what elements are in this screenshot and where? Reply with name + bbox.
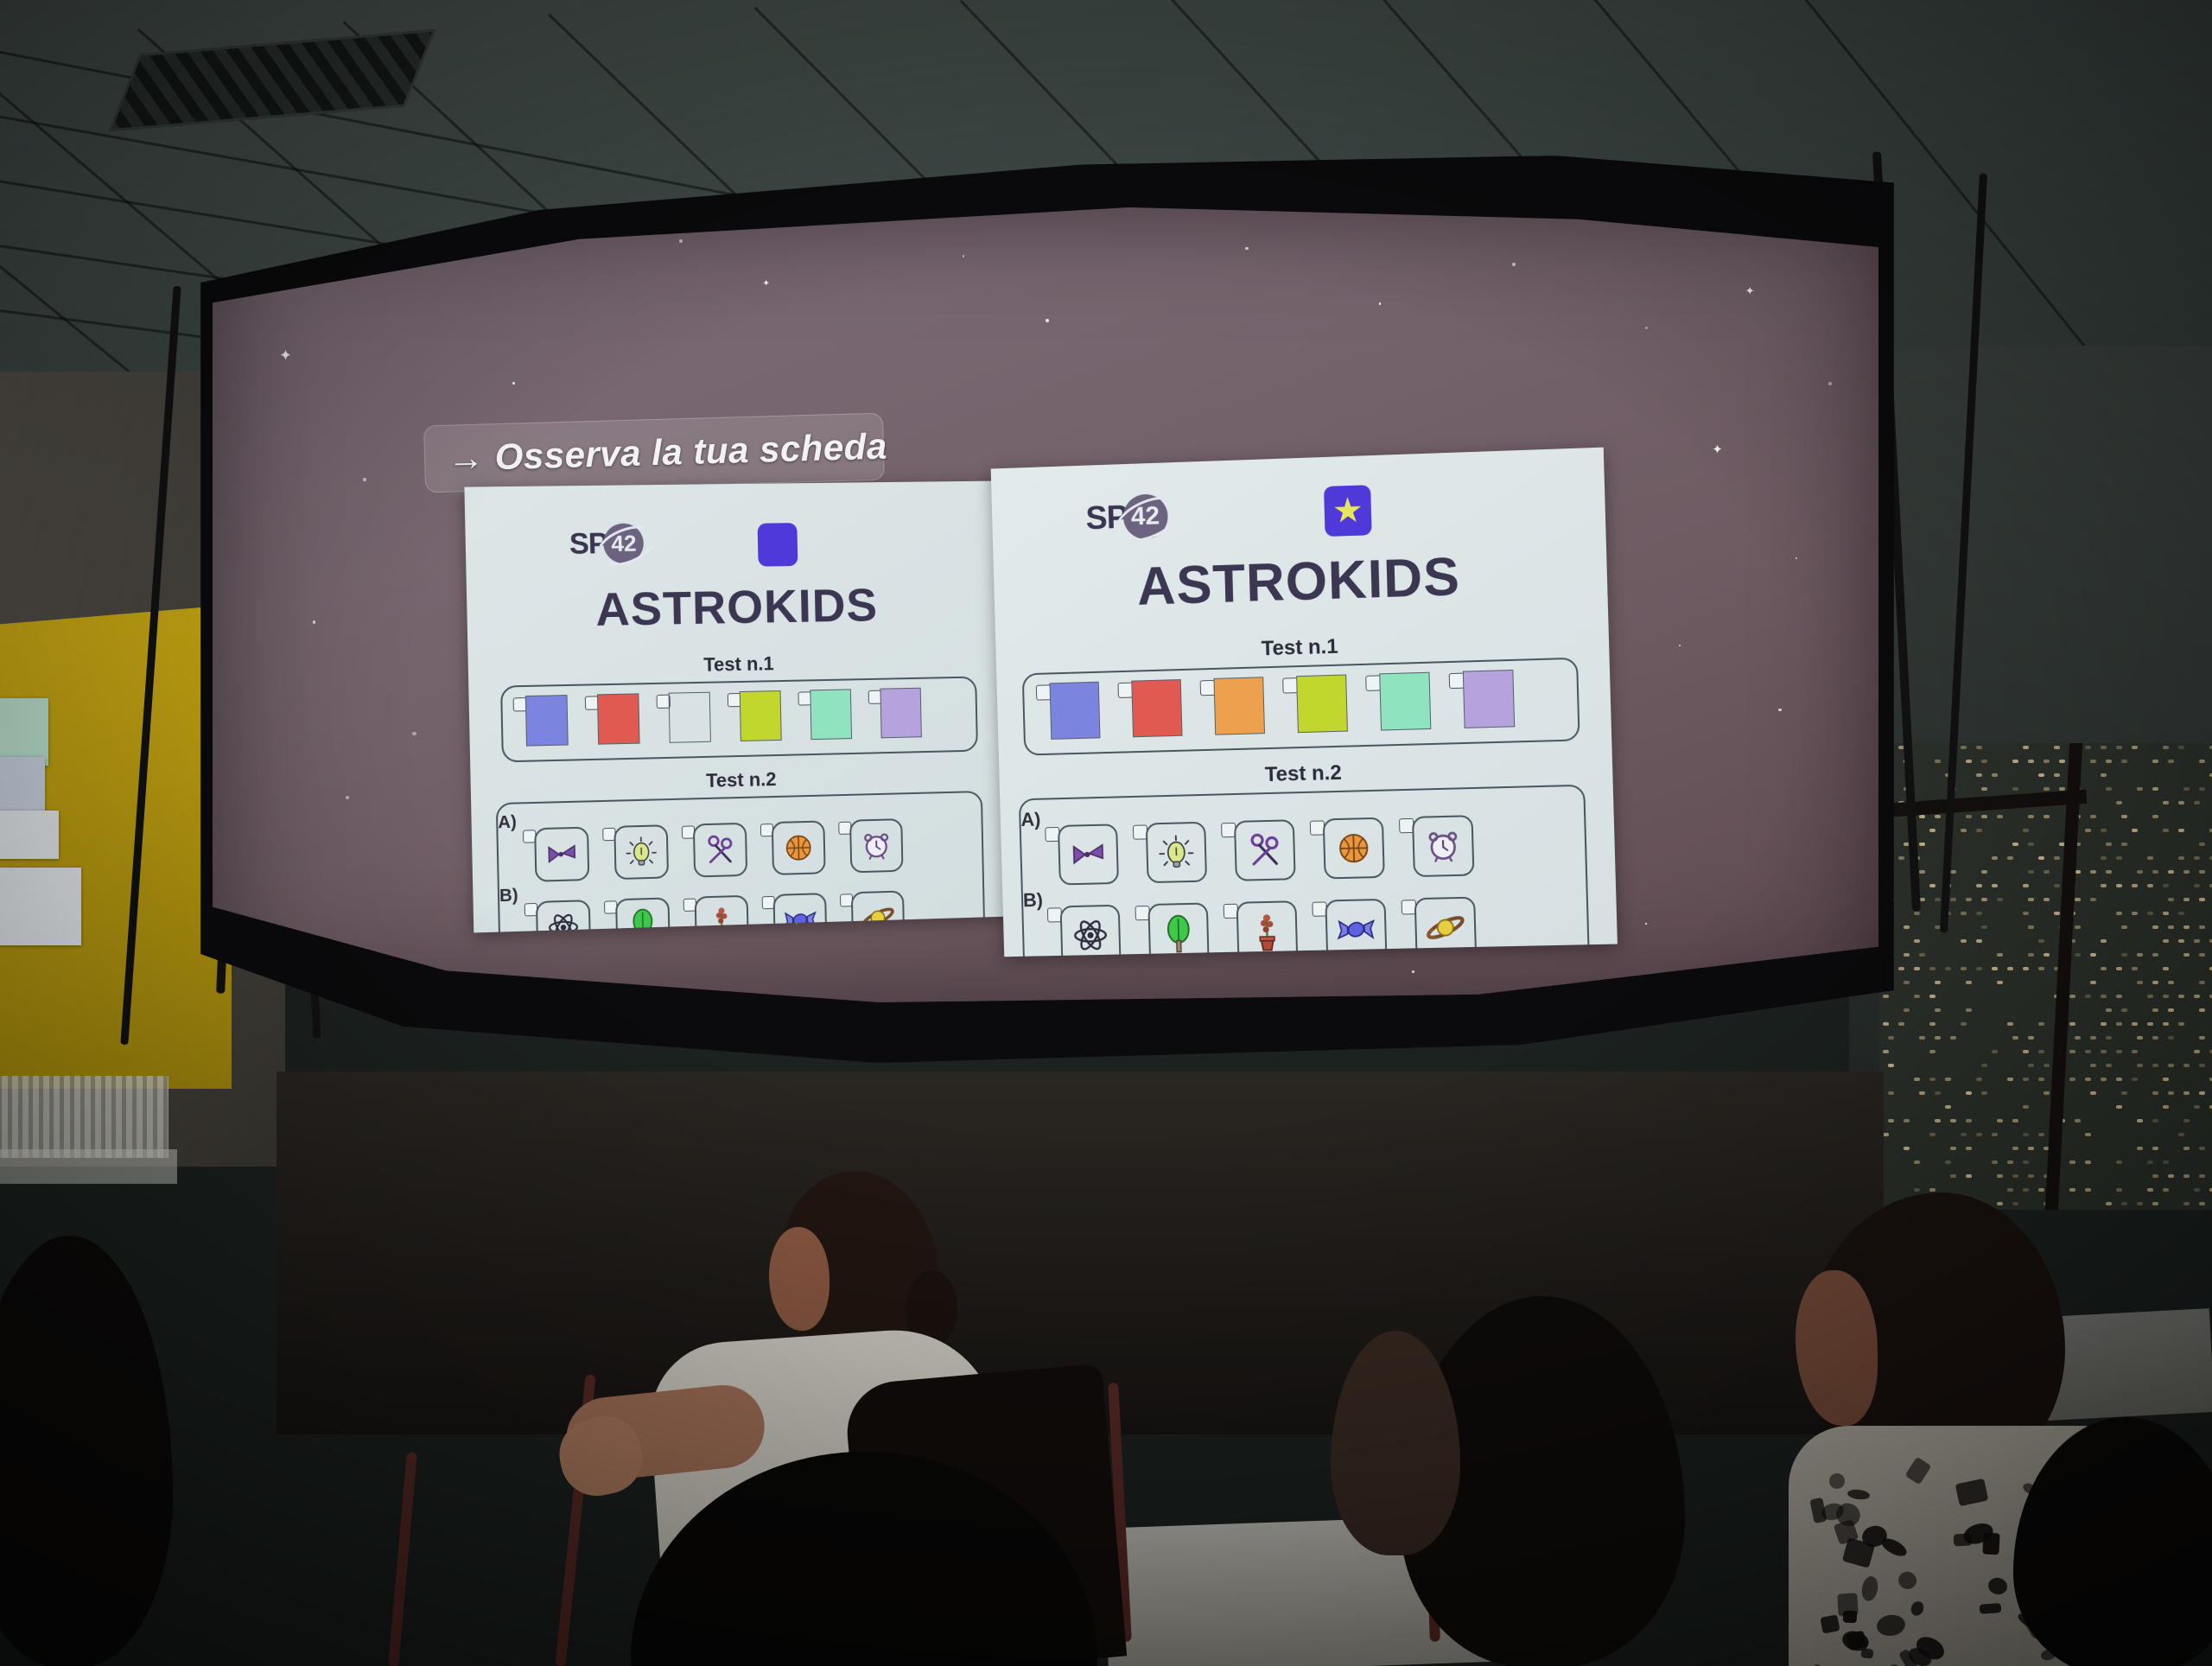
shirt-pattern-mark	[1979, 1603, 2001, 1614]
blind-light-dot	[2038, 773, 2044, 777]
scissors-icon	[702, 831, 739, 868]
blind-light-dot	[2183, 1202, 2190, 1205]
test2-rows: A) B)	[991, 448, 1604, 469]
blind-light-dot	[1981, 870, 1987, 874]
blind-light-dot	[2101, 939, 2107, 943]
sp42-logo: SP 42	[1085, 493, 1168, 541]
blind-light-dot	[1976, 912, 1982, 915]
blind-light-dot	[1929, 1050, 1935, 1053]
shirt-pattern-mark	[2085, 1647, 2113, 1666]
blind-light-dot	[2028, 815, 2034, 818]
icon-cell[interactable]	[602, 824, 669, 880]
blind-light-dot	[2044, 787, 2050, 791]
blind-light-dot	[2121, 1202, 2127, 1205]
blind-light-dot	[2106, 843, 2112, 846]
shirt-pattern-mark	[1860, 1574, 1880, 1602]
icon-box[interactable]	[1146, 822, 1207, 883]
icon-row	[1045, 815, 1490, 886]
blind-light-dot	[2007, 1078, 2013, 1081]
shirt-pattern-mark	[1961, 1520, 1996, 1547]
blind-light-dot	[1992, 773, 1998, 777]
icon-box[interactable]	[1412, 815, 1474, 877]
blind-light-dot	[1992, 967, 1998, 970]
shirt-pattern-mark	[2040, 1589, 2066, 1611]
blind-light-dot	[2183, 898, 2190, 901]
icon-cell[interactable]	[1133, 822, 1207, 884]
card-title: ASTROKIDS	[467, 576, 1003, 639]
blind-light-dot	[2152, 1202, 2158, 1205]
blind-light-dot	[2178, 801, 2184, 804]
blind-light-dot	[2163, 995, 2169, 998]
blind-light-dot	[1981, 787, 1987, 791]
blind-light-dot	[2137, 1147, 2143, 1150]
blind-light-dot	[2106, 1202, 2112, 1205]
blind-light-dot	[2101, 967, 2107, 970]
swatch-cell[interactable]	[868, 688, 922, 739]
blind-light-dot	[2090, 898, 2096, 901]
callout-text: → Osserva la tua scheda	[447, 425, 887, 479]
shirt-pattern-mark	[1898, 1649, 1919, 1666]
blind-light-dot	[2101, 829, 2107, 832]
blind-light-dot	[2199, 1036, 2205, 1040]
blind-light-dot	[1950, 1174, 1956, 1178]
blind-light-dot	[2132, 967, 2138, 970]
mint-swatch[interactable]	[810, 689, 852, 740]
orange-swatch[interactable]	[669, 692, 711, 743]
blind-light-dot	[2044, 953, 2050, 957]
blind-light-dot	[2178, 912, 2184, 915]
blind-light-dot	[1935, 1119, 1941, 1122]
blind-light-dot	[2012, 760, 2018, 763]
icon-cell[interactable]	[523, 827, 589, 883]
shirt-pattern-mark	[1904, 1457, 1931, 1485]
swatch-cell[interactable]	[656, 692, 710, 743]
blind-light-dot	[2075, 1119, 2081, 1122]
blind-light-dot	[2116, 1022, 2122, 1026]
blind-light-dot	[1966, 981, 1972, 984]
mint-swatch[interactable]	[1379, 672, 1431, 731]
row-letter: B)	[499, 886, 518, 906]
blind-light-dot	[2054, 773, 2060, 777]
atom-icon	[1070, 914, 1112, 957]
blind-light-dot	[1966, 1091, 1972, 1095]
blind-light-dot	[2116, 1050, 2122, 1053]
blind-light-dot	[2121, 760, 2127, 763]
blind-light-dot	[1919, 815, 1925, 818]
blind-light-dot	[2163, 884, 2169, 887]
blind-light-dot	[2007, 856, 2013, 860]
blind-light-dot	[2199, 760, 2205, 763]
blind-light-dot	[2038, 1022, 2044, 1026]
blind-light-dot	[1997, 1174, 2003, 1178]
blind-light-dot	[2023, 1050, 2029, 1053]
icon-box[interactable]	[613, 824, 669, 880]
blind-light-dot	[2106, 870, 2112, 874]
icon-cell[interactable]	[1312, 899, 1387, 957]
blind-light-dot	[2152, 953, 2158, 957]
blind-light-dot	[1904, 1119, 1910, 1122]
blind-light-dot	[2059, 760, 2065, 763]
blind-light-dot	[2106, 1064, 2112, 1067]
blind-light-dot	[2116, 967, 2122, 970]
card-right: SP 42 ★ ASTROKIDS Test n.1	[991, 448, 1618, 957]
blind-light-dot	[2194, 995, 2200, 998]
blind-light-dot	[2116, 1160, 2122, 1164]
blind-light-dot	[2132, 1078, 2138, 1081]
chair-leg	[388, 1452, 417, 1666]
blind-light-dot	[2023, 1078, 2029, 1081]
bowtie-icon	[1067, 833, 1109, 875]
blind-light-dot	[1950, 1036, 1956, 1040]
swatch-cell[interactable]	[798, 689, 852, 740]
blind-light-dot	[2194, 801, 2200, 804]
blind-light-dot	[1904, 1202, 1910, 1205]
bowtie-icon	[543, 836, 581, 873]
blind-light-dot	[2137, 1119, 2143, 1122]
blind-light-dot	[1929, 1022, 1935, 1026]
swatch-cell[interactable]	[1449, 670, 1516, 728]
blind-light-dot	[2178, 856, 2184, 860]
tree-icon	[1158, 912, 1200, 955]
blind-light-dot	[2101, 746, 2107, 749]
blind-light-dot	[2090, 1091, 2096, 1095]
blind-light-dot	[2028, 870, 2034, 874]
blind-light-dot	[2163, 1105, 2169, 1109]
blind-light-dot	[1888, 1091, 1894, 1095]
swatch-cell[interactable]	[1282, 674, 1348, 733]
card-title: ASTROKIDS	[994, 542, 1608, 622]
tree-icon	[624, 906, 661, 933]
orange-swatch[interactable]	[1213, 677, 1265, 734]
icon-box[interactable]	[851, 890, 905, 932]
blind-light-dot	[2183, 870, 2190, 874]
icon-box[interactable]	[534, 827, 589, 882]
blind-light-dot	[2044, 870, 2050, 874]
blind-light-dot	[1929, 1188, 1935, 1192]
icon-cell[interactable]	[683, 895, 749, 933]
icon-box[interactable]	[693, 823, 747, 878]
blind-light-dot	[1961, 912, 1967, 915]
swatch-cell[interactable]	[585, 693, 640, 745]
lilac-swatch[interactable]	[880, 688, 921, 739]
icon-box[interactable]	[1323, 817, 1385, 880]
blind-light-dot	[1904, 925, 1910, 929]
blind-light-dot	[1981, 1064, 1987, 1067]
blind-light-dot	[2038, 1188, 2044, 1192]
icon-cell[interactable]	[1047, 905, 1122, 957]
blind-light-dot	[2028, 1147, 2034, 1150]
icon-cell[interactable]	[840, 890, 905, 932]
blind-light-dot	[1914, 995, 1920, 998]
red-swatch[interactable]	[1131, 679, 1182, 737]
red-swatch[interactable]	[597, 693, 640, 744]
blind-light-dot	[2028, 1064, 2034, 1067]
swatch-cell[interactable]	[1036, 682, 1101, 741]
blind-light-dot	[2090, 760, 2096, 763]
blind-light-dot	[2178, 939, 2184, 943]
icon-cell[interactable]	[1221, 819, 1296, 881]
lightbulb-icon	[1155, 831, 1198, 874]
icon-box[interactable]	[536, 900, 591, 932]
blind-light-dot	[2038, 1050, 2044, 1053]
swatch-cell[interactable]	[1200, 677, 1265, 735]
shirt-pattern-mark	[1912, 1632, 1948, 1663]
blind-light-dot	[2044, 1091, 2050, 1095]
potted-plant-icon	[703, 904, 741, 932]
blind-light-dot	[2183, 787, 2190, 791]
blind-light-dot	[1904, 1147, 1910, 1150]
blind-light-dot	[2069, 1188, 2075, 1192]
blind-light-dot	[2028, 898, 2034, 901]
blind-light-dot	[2152, 981, 2158, 984]
blind-light-dot	[1966, 1174, 1972, 1178]
blind-light-dot	[2168, 760, 2174, 763]
wall-poster	[0, 698, 48, 766]
yellow-green-swatch[interactable]	[740, 690, 782, 741]
blind-light-dot	[2178, 829, 2184, 832]
blind-light-dot	[1883, 1133, 1889, 1136]
blind-light-dot	[2168, 1174, 2174, 1178]
blind-light-dot	[2163, 1160, 2169, 1164]
chair-leg	[1421, 1400, 1440, 1642]
blind-light-dot	[2007, 1022, 2013, 1026]
blind-light-dot	[1950, 1147, 1956, 1150]
icon-row	[1047, 896, 1492, 957]
icon-cell[interactable]	[604, 897, 671, 932]
blind-light-dot	[1945, 1160, 1951, 1164]
icon-box[interactable]	[1060, 905, 1122, 957]
blind-light-dot	[2199, 1147, 2205, 1150]
lilac-swatch[interactable]	[1463, 670, 1515, 728]
blind-light-dot	[1935, 760, 1941, 763]
blind-light-dot	[1976, 746, 1982, 749]
blind-light-dot	[2152, 1064, 2158, 1067]
blind-light-dot	[1945, 1105, 1951, 1109]
blind-light-dot	[2152, 787, 2158, 791]
blind-light-dot	[2137, 1202, 2143, 1205]
blind-light-dot	[2012, 1036, 2018, 1040]
icon-cell[interactable]	[1310, 817, 1385, 880]
test1-label: Test n.1	[468, 648, 1004, 681]
blind-light-dot	[2044, 760, 2050, 763]
saturn-icon	[1424, 906, 1467, 949]
icon-box[interactable]	[1325, 899, 1387, 957]
potted-plant-icon	[1246, 910, 1288, 952]
icon-cell[interactable]	[1045, 823, 1119, 886]
blind-light-dot	[2012, 1202, 2018, 1205]
child-front-silhouette	[631, 1452, 1097, 1666]
blind-light-dot	[2152, 1174, 2158, 1178]
blind-light-dot	[2132, 912, 2138, 915]
blind-light-dot	[2116, 1188, 2122, 1192]
blind-light-dot	[2163, 829, 2169, 832]
shirt-pattern-mark	[1840, 1628, 1871, 1653]
blind-light-dot	[2023, 829, 2029, 832]
table	[1103, 1514, 1532, 1666]
blind-light-dot	[2199, 981, 2205, 984]
icon-cell[interactable]	[762, 893, 828, 932]
blind-light-dot	[1919, 870, 1925, 874]
blind-light-dot	[2168, 1064, 2174, 1067]
blind-light-dot	[1976, 773, 1982, 777]
blind-light-dot	[2147, 856, 2153, 860]
blind-light-dot	[2090, 870, 2096, 874]
icon-box[interactable]	[1234, 819, 1296, 881]
icon-box[interactable]	[849, 818, 903, 873]
blind-light-dot	[1966, 815, 1972, 818]
blind-light-dot	[2090, 815, 2096, 818]
blind-light-dot	[1966, 1202, 1972, 1205]
child-far-right-silhouette	[2013, 1417, 2212, 1666]
card-badge	[758, 523, 798, 567]
blind-light-dot	[2116, 801, 2122, 804]
icon-box[interactable]	[1236, 900, 1299, 957]
icon-box[interactable]	[1414, 897, 1477, 957]
shirt-pattern-mark	[2044, 1566, 2063, 1592]
blind-light-dot	[1945, 967, 1951, 970]
radiator	[0, 1076, 168, 1158]
test1-swatch-row	[513, 687, 939, 747]
blind-light-dot	[2183, 1091, 2190, 1095]
blind-light-dot	[2090, 1064, 2096, 1067]
icon-cell[interactable]	[760, 820, 826, 875]
blind-light-dot	[2147, 995, 2153, 998]
shirt-pattern-mark	[1820, 1501, 1845, 1522]
blind-light-dot	[2038, 1133, 2044, 1136]
shirt-pattern-mark	[1905, 1644, 1934, 1666]
blind-light-dot	[2069, 995, 2075, 998]
blind-light-dot	[1961, 829, 1967, 832]
blind-light-dot	[2116, 1078, 2122, 1081]
icon-cell[interactable]	[524, 900, 591, 932]
blind-light-dot	[2023, 1105, 2029, 1109]
icon-box[interactable]	[615, 897, 671, 932]
blind-light-dot	[1992, 856, 1998, 860]
blind-light-dot	[1935, 1036, 1941, 1040]
row-letter: B)	[1023, 889, 1044, 912]
blind-light-dot	[2121, 843, 2127, 846]
blind-light-dot	[2069, 1078, 2075, 1081]
row-letter: A)	[498, 813, 517, 834]
blind-light-dot	[2194, 856, 2200, 860]
icon-box[interactable]	[1147, 903, 1209, 957]
blind-light-dot	[1981, 925, 1987, 929]
swatch-cell[interactable]	[1365, 672, 1431, 731]
blind-light-dot	[2044, 1064, 2050, 1067]
icon-cell[interactable]	[1399, 815, 1475, 877]
icon-cell[interactable]	[1224, 900, 1299, 957]
blind-light-dot	[1904, 953, 1910, 957]
blind-light-dot	[1929, 995, 1935, 998]
blind-light-dot	[2132, 1022, 2138, 1026]
blind-light-dot	[1945, 1078, 1951, 1081]
blind-light-dot	[1976, 1133, 1982, 1136]
wall-poster	[0, 811, 59, 859]
yellow-green-swatch[interactable]	[1296, 674, 1348, 733]
swatch-cell[interactable]	[513, 695, 569, 747]
blind-light-dot	[2147, 1160, 2153, 1164]
blind-light-dot	[1914, 912, 1920, 915]
icon-cell[interactable]	[838, 818, 903, 874]
blind-light-dot	[2121, 953, 2127, 957]
blind-light-dot	[1966, 1008, 1972, 1012]
blind-light-dot	[2069, 1022, 2075, 1026]
blind-light-dot	[1950, 1119, 1956, 1122]
projection-screen: ✦✦✦✦✦✦ → Osserva la tua scheda SP 42	[200, 156, 1894, 1063]
icon-box[interactable]	[772, 820, 826, 874]
blind-light-dot	[2054, 912, 2060, 915]
blind-light-dot	[1961, 1022, 1967, 1026]
atom-icon	[544, 908, 582, 932]
icon-box[interactable]	[1058, 823, 1119, 885]
shirt-pattern-mark	[2022, 1613, 2044, 1638]
blind-light-dot	[2075, 898, 2081, 901]
icon-cell[interactable]	[1135, 903, 1209, 957]
blind-light-dot	[2199, 787, 2205, 791]
blind-light-dot	[1992, 1160, 1998, 1164]
blind-light-dot	[2085, 1133, 2091, 1136]
blind-light-dot	[2085, 746, 2091, 749]
icon-cell[interactable]	[1402, 897, 1478, 957]
wall-poster	[0, 757, 45, 811]
blind-light-dot	[2183, 1064, 2190, 1067]
icon-row	[523, 818, 917, 882]
blind-light-dot	[2178, 995, 2184, 998]
blind-light-dot	[1919, 843, 1925, 846]
blind-light-dot	[1966, 1119, 1972, 1122]
blind-light-dot	[2199, 1091, 2205, 1095]
blind-light-dot	[1929, 1133, 1935, 1136]
shirt-pattern-mark	[1882, 1663, 1904, 1666]
blind-light-dot	[2012, 787, 2018, 791]
icon-cell[interactable]	[682, 823, 747, 878]
blind-light-dot	[2106, 1008, 2112, 1012]
icon-box[interactable]	[695, 895, 749, 933]
blind-light-dot	[2069, 1050, 2075, 1053]
blind-light-dot	[1904, 981, 1910, 984]
blind-light-dot	[2168, 1091, 2174, 1095]
blind-light-dot	[2028, 760, 2034, 763]
blind-light-dot	[2023, 1160, 2029, 1164]
blind-light-dot	[2168, 981, 2174, 984]
icon-box[interactable]	[773, 893, 828, 932]
back-wall	[276, 1071, 1884, 1434]
swatch-cell[interactable]	[728, 690, 782, 741]
blind-light-dot	[2028, 953, 2034, 957]
shirt-pattern-mark	[2044, 1534, 2084, 1571]
blind-light-dot	[2023, 746, 2029, 749]
blind-light-dot	[2168, 1008, 2174, 1012]
blind-light-dot	[1950, 898, 1956, 901]
blue-swatch[interactable]	[525, 695, 569, 747]
shirt-pattern-mark	[2039, 1631, 2065, 1647]
swatch-cell[interactable]	[1117, 679, 1182, 738]
blind-light-dot	[2178, 746, 2184, 749]
blind-light-dot	[2199, 925, 2205, 929]
star-icon: ★	[1324, 485, 1372, 537]
blind-light-dot	[1992, 884, 1998, 887]
shirt-pattern-mark	[1837, 1593, 1859, 1616]
blind-light-dot	[2178, 1022, 2184, 1026]
blind-light-dot	[1935, 1091, 1941, 1095]
table	[2011, 1308, 2212, 1422]
blind-light-dot	[2199, 1064, 2205, 1067]
blue-swatch[interactable]	[1050, 682, 1101, 740]
blind-light-dot	[2199, 1174, 2205, 1178]
blind-light-dot	[2194, 1050, 2200, 1053]
blind-light-dot	[2147, 912, 2153, 915]
blind-light-dot	[2054, 746, 2060, 749]
